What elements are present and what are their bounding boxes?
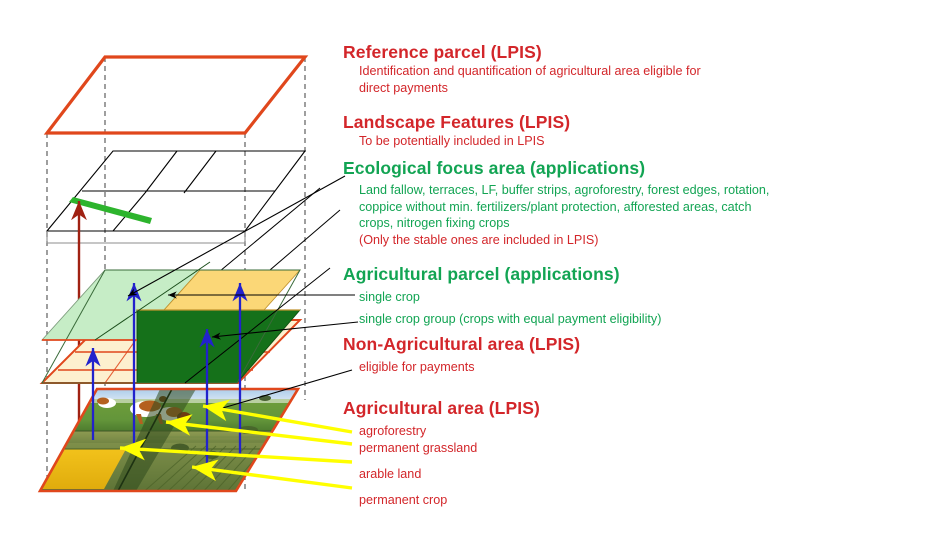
heading-agricultural-parcel: Agricultural parcel (applications): [343, 264, 661, 285]
legend-block-non-agricultural-area: Non-Agricultural area (LPIS) eligible fo…: [343, 334, 580, 376]
efa-line-2: coppice without min. fertilizers/plant p…: [359, 199, 769, 216]
diagram-root: Reference parcel (LPIS) Identification a…: [0, 0, 948, 533]
landscape-features-line-1: To be potentially included in LPIS: [359, 133, 570, 150]
agricultural-area-line-1: agroforestry: [359, 423, 540, 440]
legend-block-ecological-focus-area: Ecological focus area (applications) Lan…: [343, 158, 769, 248]
legend-block-agricultural-area: Agricultural area (LPIS) agroforestry pe…: [343, 398, 540, 508]
agricultural-parcel-line-2: single crop group (crops with equal paym…: [359, 311, 661, 328]
reference-parcel-line-2: direct payments: [359, 80, 701, 97]
agricultural-parcel-line-1: single crop: [359, 289, 661, 306]
agricultural-area-line-4: permanent crop: [359, 492, 540, 509]
heading-agricultural-area: Agricultural area (LPIS): [343, 398, 540, 419]
landscape-feature-band: [69, 197, 152, 224]
reference-parcel-plane: [47, 57, 305, 133]
agricultural-area-line-2: permanent grassland: [359, 440, 540, 457]
efa-line-3: crops, nitrogen fixing crops: [359, 215, 769, 232]
efa-line-1: Land fallow, terraces, LF, buffer strips…: [359, 182, 769, 199]
heading-reference-parcel: Reference parcel (LPIS): [343, 42, 701, 63]
legend-block-agricultural-parcel: Agricultural parcel (applications) singl…: [343, 264, 661, 327]
efa-note: (Only the stable ones are included in LP…: [359, 232, 769, 249]
reference-parcel-line-1: Identification and quantification of agr…: [359, 63, 701, 80]
heading-non-agricultural-area: Non-Agricultural area (LPIS): [343, 334, 580, 355]
legend-block-reference-parcel: Reference parcel (LPIS) Identification a…: [343, 42, 701, 96]
legend-block-landscape-features: Landscape Features (LPIS) To be potentia…: [343, 112, 570, 150]
parcel-crop-group-darkgreen: [137, 310, 300, 383]
heading-ecological-focus-area: Ecological focus area (applications): [343, 158, 769, 179]
agricultural-area-line-3: arable land: [359, 466, 540, 483]
heading-landscape-features: Landscape Features (LPIS): [343, 112, 570, 133]
non-agricultural-area-line-1: eligible for payments: [359, 359, 580, 376]
